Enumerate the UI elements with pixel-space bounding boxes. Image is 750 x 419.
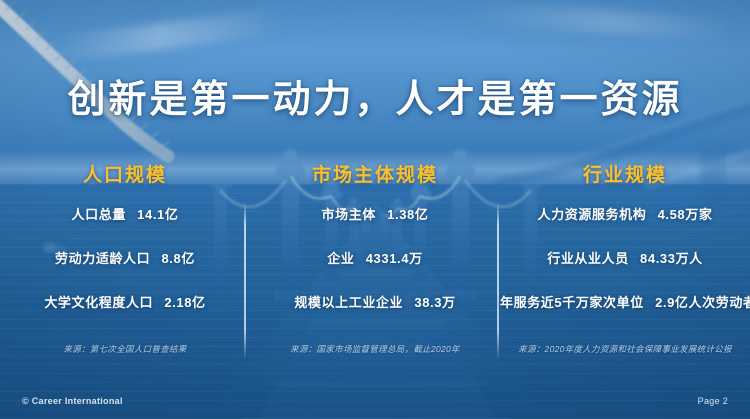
stat-value: 38.3万: [414, 295, 455, 310]
stat-row: 行业从业人员 84.33万人: [500, 250, 750, 267]
stat-row: 市场主体 1.38亿: [250, 206, 500, 223]
presentation-slide: 创新是第一动力，人才是第一资源 人口规模 人口总量 14.1亿 劳动力适龄人口 …: [0, 0, 750, 419]
source-note-wrapper: 来源：第七次全国人口普查结果: [0, 339, 250, 357]
column-heading-market-entities: 市场主体规模: [250, 160, 500, 187]
stats-columns: 人口规模 人口总量 14.1亿 劳动力适龄人口 8.8亿 大学文化程度人口 2.…: [0, 160, 750, 311]
source-note-wrapper: 来源：国家市场监督管理总局，截止2020年: [250, 339, 500, 357]
slide-title: 创新是第一动力，人才是第一资源: [0, 68, 750, 123]
stats-column-market-entities: 市场主体规模 市场主体 1.38亿 企业 4331.4万 规模以上工业企业 38…: [250, 160, 500, 311]
source-note-market-entities: 来源：国家市场监督管理总局，截止2020年: [290, 344, 460, 354]
stat-label: 行业从业人员: [547, 251, 629, 266]
stat-row: 年服务近5千万家次单位 2.9亿人次劳动者: [500, 294, 750, 311]
source-note-industry: 来源：2020年度人力资源和社会保障事业发展统计公报: [518, 344, 732, 354]
stat-label: 劳动力适龄人口: [55, 251, 150, 266]
stat-label: 人口总量: [72, 207, 126, 222]
stat-value: 2.18亿: [164, 295, 205, 310]
stats-column-industry: 行业规模 人力资源服务机构 4.58万家 行业从业人员 84.33万人 年服务近…: [500, 160, 750, 311]
stat-label: 市场主体: [322, 207, 376, 222]
stat-row: 规模以上工业企业 38.3万: [250, 294, 500, 311]
stat-value: 4.58万家: [658, 207, 713, 222]
slide-content: 创新是第一动力，人才是第一资源 人口规模 人口总量 14.1亿 劳动力适龄人口 …: [0, 0, 750, 419]
stat-value: 14.1亿: [137, 207, 178, 222]
stat-value: 1.38亿: [387, 207, 428, 222]
page-number: Page 2: [698, 396, 728, 406]
stat-label: 规模以上工业企业: [294, 295, 403, 310]
source-note-population: 来源：第七次全国人口普查结果: [63, 344, 186, 354]
stat-value: 2.9亿人次劳动者: [655, 295, 750, 310]
column-heading-industry: 行业规模: [500, 160, 750, 187]
stat-label: 企业: [327, 251, 354, 266]
stat-value: 4331.4万: [366, 251, 423, 266]
stat-row: 劳动力适龄人口 8.8亿: [0, 250, 250, 267]
stat-row: 人口总量 14.1亿: [0, 206, 250, 223]
stat-row: 大学文化程度人口 2.18亿: [0, 294, 250, 311]
stat-value: 84.33万人: [640, 251, 703, 266]
stat-row: 人力资源服务机构 4.58万家: [500, 206, 750, 223]
stats-column-population: 人口规模 人口总量 14.1亿 劳动力适龄人口 8.8亿 大学文化程度人口 2.…: [0, 160, 250, 311]
column-heading-population: 人口规模: [0, 160, 250, 187]
stat-label: 大学文化程度人口: [44, 295, 153, 310]
stat-label: 年服务近5千万家次单位: [500, 295, 644, 310]
stat-row: 企业 4331.4万: [250, 250, 500, 267]
copyright-notice: © Career International: [22, 396, 123, 406]
source-note-wrapper: 来源：2020年度人力资源和社会保障事业发展统计公报: [500, 339, 750, 357]
stat-value: 8.8亿: [161, 251, 194, 266]
stat-label: 人力资源服务机构: [538, 207, 647, 222]
